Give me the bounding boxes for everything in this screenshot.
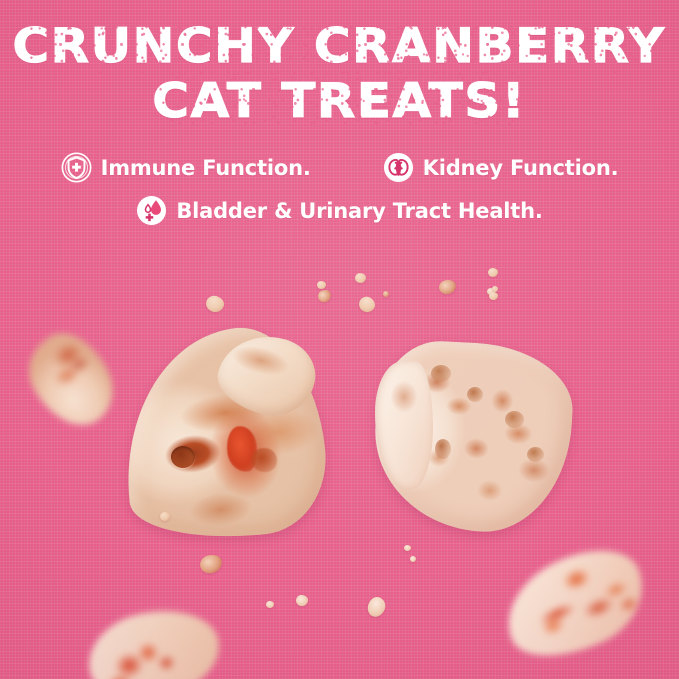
crumb (296, 595, 308, 606)
crumb (410, 556, 416, 562)
feature-item-kidney: Kidney Function. (383, 152, 619, 183)
crumb (489, 292, 498, 300)
treat-piece-right-main (375, 343, 571, 531)
kidney-icon (383, 152, 414, 183)
treat-piece-bottom-left (81, 599, 228, 679)
headline-line-2: CAT TREATS! (153, 79, 527, 124)
crumb (198, 552, 224, 575)
treat-piece-left-main (123, 330, 323, 538)
crumb (438, 278, 458, 295)
crumb (383, 291, 389, 297)
feature-item-immune: Immune Function. (61, 152, 311, 183)
crumb (404, 545, 411, 551)
feature-label-immune: Immune Function. (101, 156, 311, 180)
crumb (204, 294, 226, 315)
feature-label-kidney: Kidney Function. (423, 156, 619, 180)
crumb (266, 601, 274, 608)
droplet-cross-icon (136, 195, 167, 226)
crumb (365, 595, 388, 620)
crumb (317, 281, 326, 289)
crumb (488, 268, 498, 277)
feature-row-2: Bladder & Urinary Tract Health. (0, 195, 679, 226)
headline-block: CRUNCHY CRANBERRY CAT TREATS! (0, 24, 679, 124)
crumb (355, 273, 366, 283)
headline-line-1: CRUNCHY CRANBERRY (13, 24, 666, 69)
feature-list: Immune Function. (0, 152, 679, 226)
feature-row-1: Immune Function. (0, 152, 679, 183)
treat-piece-left-edge (16, 320, 126, 440)
crumb (316, 288, 333, 304)
product-hero-image: CRUNCHY CRANBERRY CAT TREATS! Immune Fun… (0, 0, 679, 679)
treat-piece-bottom-right (491, 533, 660, 676)
shield-cross-icon (61, 152, 92, 183)
crumb (356, 294, 378, 315)
feature-item-bladder: Bladder & Urinary Tract Health. (136, 195, 542, 226)
feature-label-bladder: Bladder & Urinary Tract Health. (176, 199, 542, 223)
